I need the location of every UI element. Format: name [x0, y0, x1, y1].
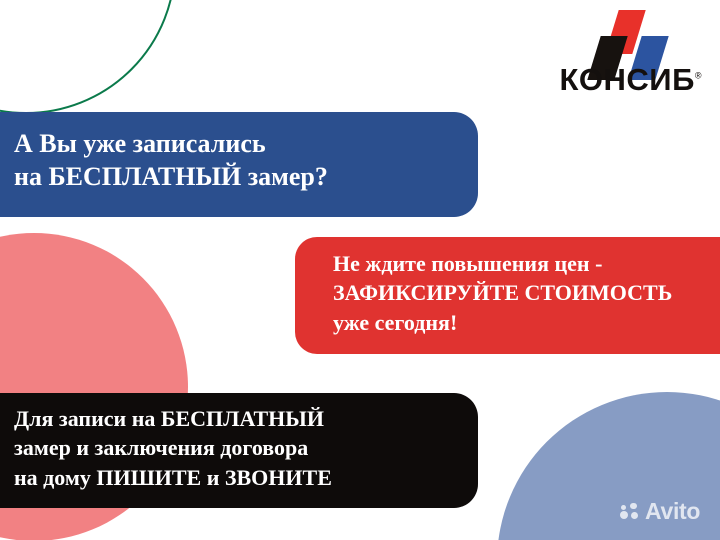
headline-banner-red: Не ждите повышения цен - ЗАФИКСИРУЙТЕ СТ…: [295, 237, 720, 354]
avito-dots-icon: [620, 503, 640, 521]
headline-banner-black-line-2: замер и заключения договора: [14, 433, 460, 462]
avito-watermark: Avito: [620, 500, 700, 523]
teal-ring-decoration: [0, 0, 176, 114]
headline-banner-red-line-2: ЗАФИКСИРУЙТЕ СТОИМОСТЬ: [333, 278, 720, 307]
headline-banner-red-line-3: уже сегодня!: [333, 308, 720, 337]
poster-canvas: КОНСИБ® А Вы уже записались на БЕСПЛАТНЫ…: [0, 0, 720, 540]
headline-banner-black-line-3: на дому ПИШИТЕ и ЗВОНИТЕ: [14, 463, 460, 492]
logo-wordmark: КОНСИБ®: [532, 64, 702, 95]
headline-banner-black: Для записи на БЕСПЛАТНЫЙ замер и заключе…: [0, 393, 478, 508]
logo-wordmark-text: КОНСИБ: [559, 62, 694, 97]
brand-logo: КОНСИБ®: [532, 8, 702, 104]
headline-banner-red-line-1: Не ждите повышения цен -: [333, 249, 720, 278]
headline-banner-blue-line-1: А Вы уже записались: [14, 128, 460, 161]
headline-banner-black-line-1: Для записи на БЕСПЛАТНЫЙ: [14, 404, 460, 433]
headline-banner-blue: А Вы уже записались на БЕСПЛАТНЫЙ замер?: [0, 112, 478, 217]
logo-mark: [532, 8, 702, 66]
headline-banner-blue-line-2: на БЕСПЛАТНЫЙ замер?: [14, 161, 460, 194]
registered-trademark-symbol: ®: [695, 71, 702, 81]
avito-wordmark: Avito: [645, 500, 700, 523]
